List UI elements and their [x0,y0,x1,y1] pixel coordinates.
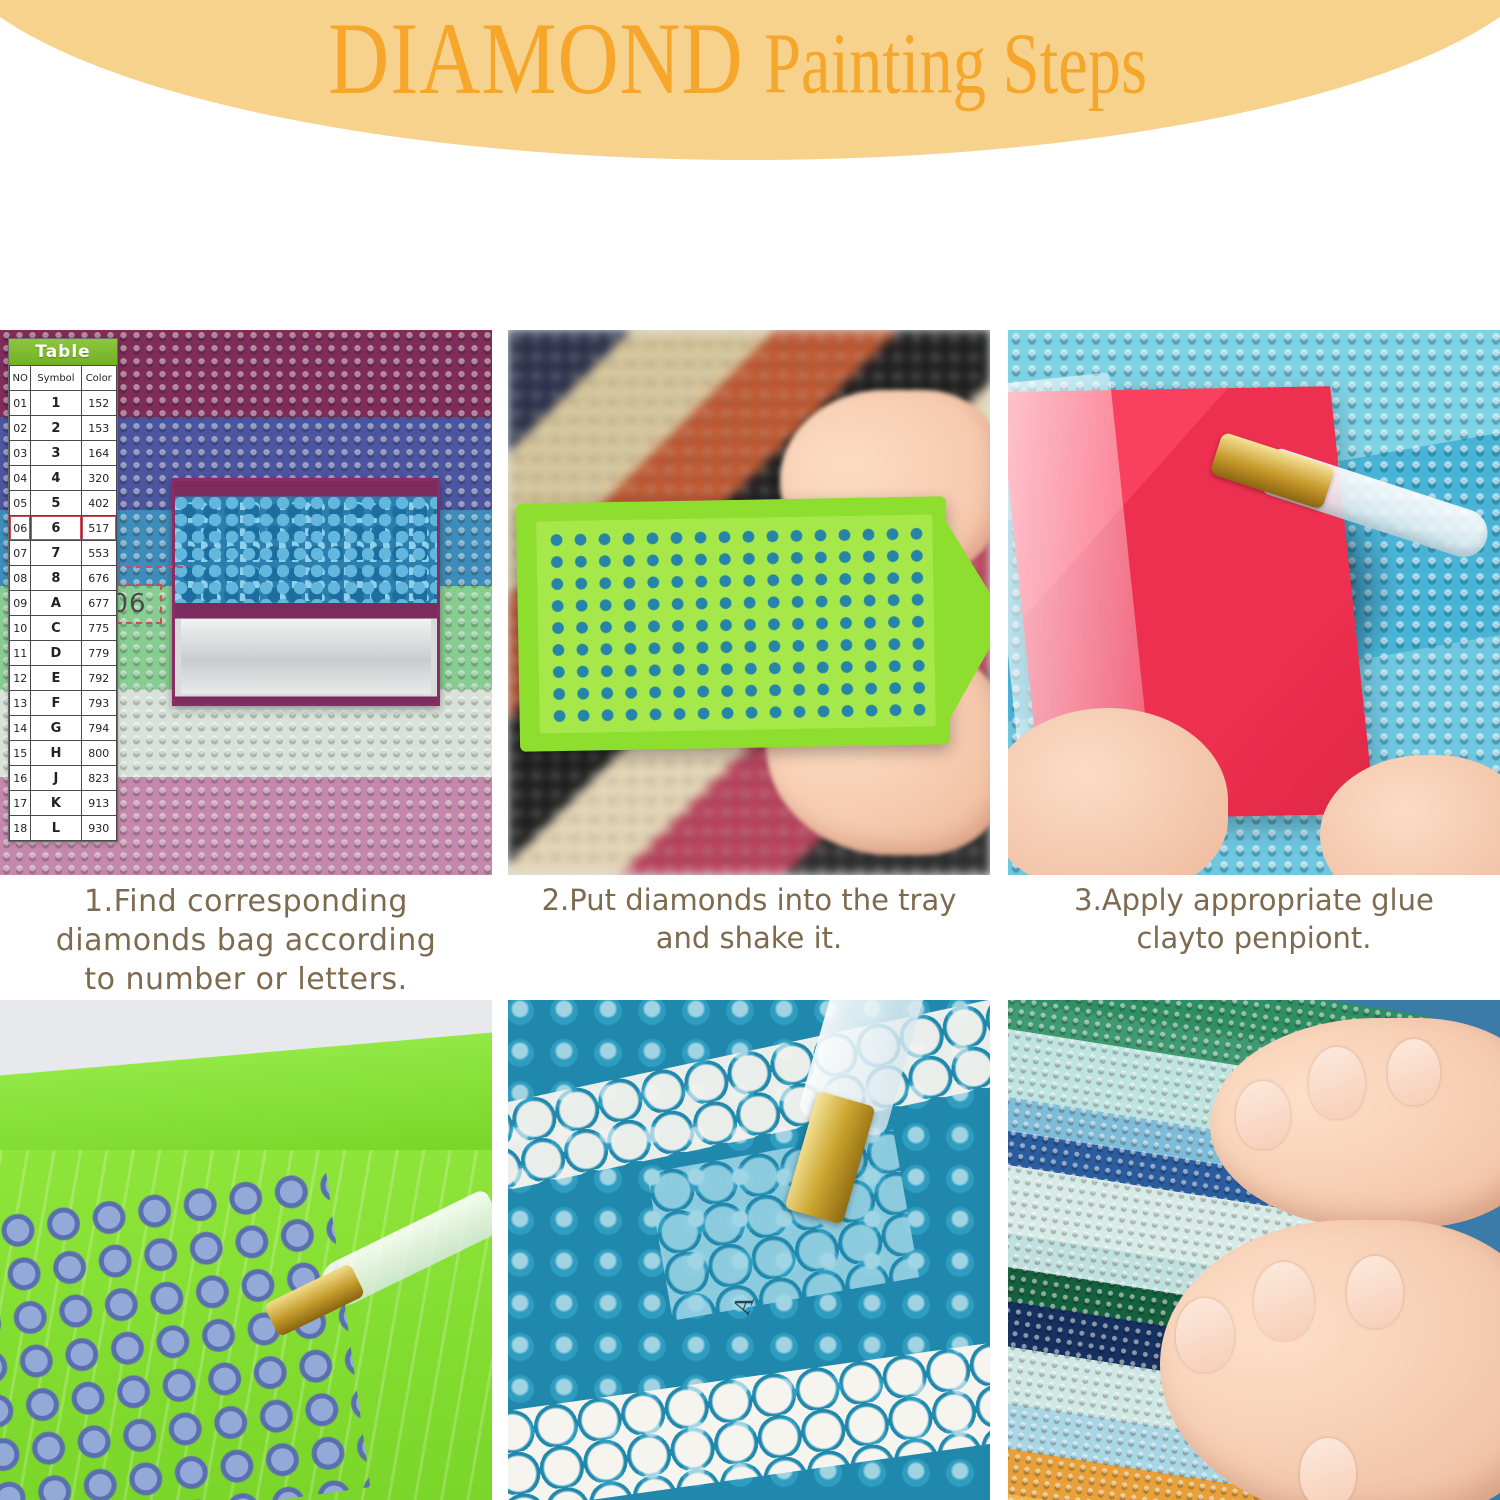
legend-col-symbol: Symbol [31,366,81,391]
diamond-bag [172,478,440,706]
fingernail [1300,1438,1356,1500]
caption-line-1: 1.Find corresponding [0,882,492,921]
fingernail [1388,1039,1440,1105]
legend-cell-symbol: 3 [31,441,81,466]
legend-cell-symbol: F [31,691,81,716]
pen-gold-tip [784,1091,875,1225]
green-diamond-tray [516,496,950,751]
legend-row: 18L930 [10,816,117,841]
caption-line-2: clayto penpiont. [1008,920,1500,958]
caption-line-2: and shake it. [508,920,990,958]
legend-cell-symbol: 2 [31,416,81,441]
fingernail [1176,1298,1234,1372]
legend-cell-no: 08 [10,566,31,591]
legend-cell-no: 05 [10,491,31,516]
legend-cell-no: 12 [10,666,31,691]
legend-row: 055402 [10,491,117,516]
legend-cell-no: 13 [10,691,31,716]
legend-cell-color: 164 [81,441,117,466]
color-legend-table: Table NO Symbol Color 011152022153033164… [8,338,118,842]
step-card-5: A [508,1000,990,1500]
legend-cell-color: 775 [81,616,117,641]
legend-cell-symbol: 4 [31,466,81,491]
legend-row: 14G794 [10,716,117,741]
legend-cell-color: 793 [81,691,117,716]
legend-row: 033164 [10,441,117,466]
legend-cell-color: 320 [81,466,117,491]
tray-diamonds [544,523,931,728]
legend-cell-symbol: 5 [31,491,81,516]
step-2-photo [508,330,990,875]
legend-cell-symbol: 8 [31,566,81,591]
step-2-caption: 2.Put diamonds into the tray and shake i… [508,882,990,957]
legend-col-no: NO [10,366,31,391]
fingernail [1309,1047,1365,1119]
caption-line-3: to number or letters. [0,960,492,999]
legend-row: 011152 [10,391,117,416]
step-4-photo [0,1000,492,1500]
legend-cell-symbol: C [31,616,81,641]
legend-cell-color: 677 [81,591,117,616]
bag-beads [175,497,437,604]
legend-cell-symbol: J [31,766,81,791]
legend-row: 09A677 [10,591,117,616]
legend-cell-symbol: E [31,666,81,691]
legend-row: 10C775 [10,616,117,641]
fingernail [1347,1256,1403,1328]
legend-cell-no: 03 [10,441,31,466]
step-card-1: 06 Table NO Symbol Color 011152022153033… [0,330,492,875]
legend-row: 15H800 [10,741,117,766]
legend-cell-color: 800 [81,741,117,766]
legend-cell-color: 794 [81,716,117,741]
legend-cell-color: 153 [81,416,117,441]
legend-cell-no: 04 [10,466,31,491]
bag-label-strip [181,619,431,694]
title-sub-text: Painting Steps [764,21,1147,108]
tray-inner-surface [536,515,936,734]
legend-title: Table [9,339,117,365]
step-1-photo: 06 Table NO Symbol Color 011152022153033… [0,330,492,875]
legend-cell-color: 823 [81,766,117,791]
legend-cell-no: 17 [10,791,31,816]
legend-cell-no: 11 [10,641,31,666]
legend-cell-color: 402 [81,491,117,516]
fingernail [1236,1081,1290,1149]
legend-cell-color: 553 [81,541,117,566]
legend-cell-color: 792 [81,666,117,691]
legend-row: 11D779 [10,641,117,666]
legend-col-color: Color [81,366,117,391]
fingernail [1254,1262,1314,1340]
infographic-page: DIAMONDPainting Steps 06 Table [0,0,1500,1500]
steps-grid: 06 Table NO Symbol Color 011152022153033… [0,330,1500,1500]
legend-cell-no: 02 [10,416,31,441]
legend-row: 12E792 [10,666,117,691]
legend-cell-color: 152 [81,391,117,416]
legend-cell-symbol: A [31,591,81,616]
legend-cell-no: 07 [10,541,31,566]
legend-row: 066517 [10,516,117,541]
legend-cell-no: 16 [10,766,31,791]
legend-cell-symbol: K [31,791,81,816]
legend-row: 077553 [10,541,117,566]
legend-cell-color: 517 [81,516,117,541]
legend-cell-symbol: 1 [31,391,81,416]
legend-cell-symbol: 6 [31,516,81,541]
step-card-3: 3.Apply appropriate glue clayto penpiont… [1008,330,1500,875]
caption-line-1: 3.Apply appropriate glue [1008,882,1500,920]
page-title: DIAMONDPainting Steps [0,18,1500,110]
step-5-photo: A [508,1000,990,1500]
title-main-text: DIAMOND [328,7,744,110]
step-card-6 [1008,1000,1500,1500]
header-banner: DIAMONDPainting Steps [0,0,1500,165]
legend-row: 17K913 [10,791,117,816]
legend-grid: NO Symbol Color 011152022153033164044320… [9,365,117,841]
caption-line-2: diamonds bag according [0,921,492,960]
step-3-photo [1008,330,1500,875]
legend-row: 044320 [10,466,117,491]
legend-row: 022153 [10,416,117,441]
caption-line-1: 2.Put diamonds into the tray [508,882,990,920]
step-card-2: 2.Put diamonds into the tray and shake i… [508,330,990,875]
step-6-photo [1008,1000,1500,1500]
legend-cell-no: 15 [10,741,31,766]
legend-cell-no: 14 [10,716,31,741]
legend-cell-symbol: D [31,641,81,666]
legend-cell-symbol: H [31,741,81,766]
legend-row: 088676 [10,566,117,591]
legend-cell-no: 09 [10,591,31,616]
legend-cell-symbol: G [31,716,81,741]
step-card-4 [0,1000,492,1500]
legend-cell-color: 930 [81,816,117,841]
legend-cell-color: 676 [81,566,117,591]
legend-cell-no: 01 [10,391,31,416]
legend-body: 0111520221530331640443200554020665170775… [10,391,117,841]
legend-cell-color: 913 [81,791,117,816]
legend-cell-symbol: L [31,816,81,841]
legend-cell-no: 06 [10,516,31,541]
legend-cell-no: 18 [10,816,31,841]
legend-header-row: NO Symbol Color [10,366,117,391]
legend-row: 16J823 [10,766,117,791]
step-3-caption: 3.Apply appropriate glue clayto penpiont… [1008,882,1500,957]
legend-cell-symbol: 7 [31,541,81,566]
legend-cell-no: 10 [10,616,31,641]
step-1-caption: 1.Find corresponding diamonds bag accord… [0,882,492,999]
legend-row: 13F793 [10,691,117,716]
legend-cell-color: 779 [81,641,117,666]
